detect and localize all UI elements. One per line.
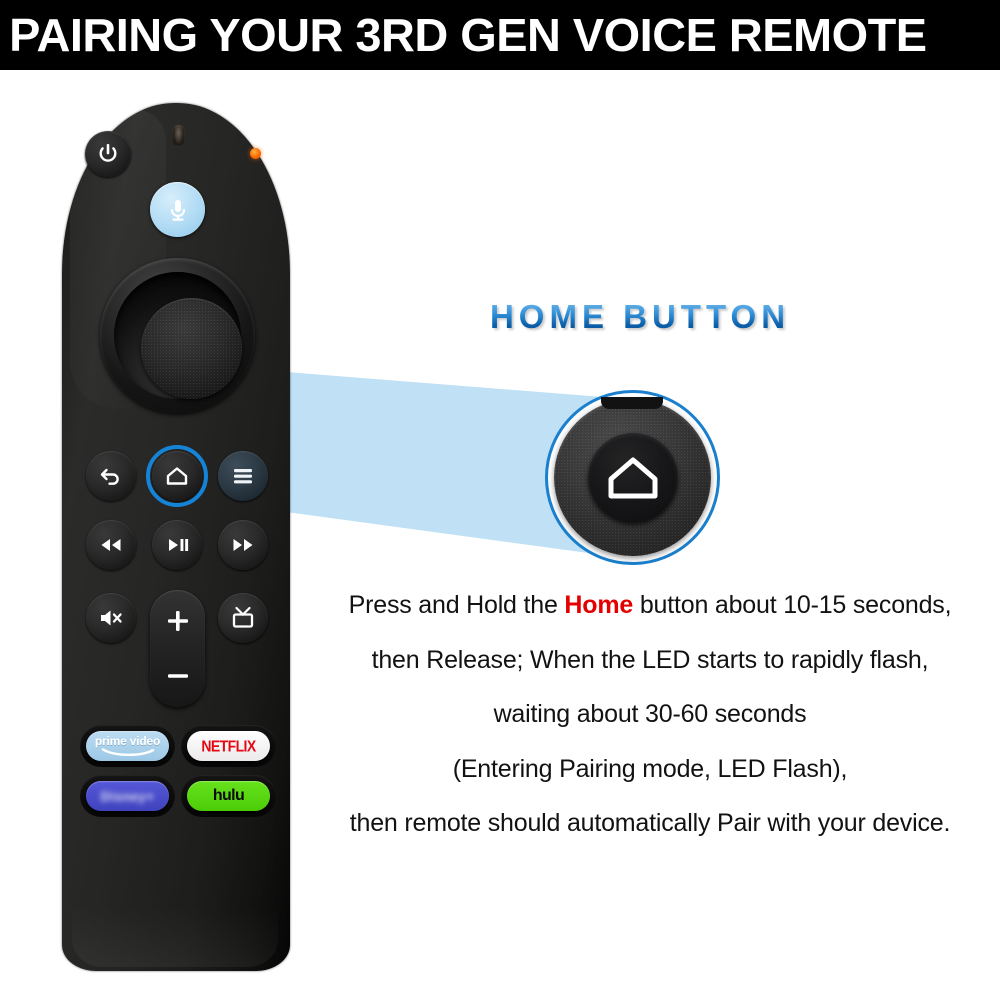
prime-video-label: prime video: [95, 735, 160, 747]
magnified-home-key[interactable]: [588, 433, 678, 523]
callout-title: HOME BUTTON: [470, 298, 810, 336]
home-keyword: Home: [564, 591, 633, 619]
disney-plus-label: Disney+: [101, 789, 155, 804]
fast-forward-icon: [229, 536, 257, 554]
play-pause-button[interactable]: [152, 520, 202, 570]
instruction-line-1-after: button about 10-15 seconds,: [633, 591, 951, 619]
fast-forward-button[interactable]: [218, 520, 268, 570]
voice-search-button[interactable]: [150, 182, 205, 237]
navigation-dpad[interactable]: [100, 258, 255, 413]
hamburger-menu-icon: [230, 465, 256, 487]
dpad-texture: [141, 298, 242, 399]
back-button[interactable]: [86, 451, 136, 501]
microphone-hole: [172, 125, 185, 147]
volume-down-button[interactable]: [150, 647, 205, 705]
remote-bottom-highlight: [72, 907, 278, 967]
instruction-line-2: then Release; When the LED starts to rap…: [300, 647, 1000, 675]
dpad-groove: [114, 272, 241, 399]
mute-speaker-icon: [97, 607, 125, 629]
menu-button[interactable]: [218, 451, 268, 501]
fire-tv-remote: prime video NETFLIX Disney+ hulu: [62, 103, 290, 971]
status-led-indicator: [250, 148, 261, 159]
tv-icon: [229, 605, 257, 631]
amazon-smile-icon: [101, 748, 155, 757]
magnified-dpad-surface: [554, 399, 711, 556]
page-title: PAIRING YOUR 3RD GEN VOICE REMOTE: [0, 12, 927, 58]
header-bar: PAIRING YOUR 3RD GEN VOICE REMOTE: [0, 0, 1000, 70]
mute-button[interactable]: [86, 593, 136, 643]
instructions-block: Press and Hold the Home button about 10-…: [300, 592, 1000, 838]
netflix-button[interactable]: NETFLIX: [187, 731, 270, 761]
power-icon: [96, 142, 120, 166]
instruction-line-1-before: Press and Hold the: [349, 591, 565, 619]
prime-video-button[interactable]: prime video: [86, 731, 169, 761]
select-button[interactable]: [141, 298, 242, 399]
magnified-home-button: [545, 390, 720, 565]
instruction-line-3: waiting about 30-60 seconds: [300, 701, 1000, 729]
play-pause-icon: [163, 536, 191, 554]
plus-icon: [165, 608, 191, 634]
volume-up-button[interactable]: [150, 592, 205, 650]
minus-icon: [165, 663, 191, 689]
hulu-button[interactable]: hulu: [187, 781, 270, 811]
home-button-highlight-ring: [146, 445, 208, 507]
live-tv-button[interactable]: [218, 593, 268, 643]
home-icon: [602, 450, 664, 506]
microphone-icon: [165, 196, 191, 224]
netflix-label: NETFLIX: [201, 737, 255, 755]
instruction-line-4: (Entering Pairing mode, LED Flash),: [300, 756, 1000, 784]
instruction-line-5: then remote should automatically Pair wi…: [300, 810, 1000, 838]
disney-plus-button[interactable]: Disney+: [86, 781, 169, 811]
back-arrow-icon: [98, 464, 124, 488]
rewind-button[interactable]: [86, 520, 136, 570]
hulu-label: hulu: [213, 787, 244, 805]
rewind-icon: [97, 536, 125, 554]
instruction-line-1: Press and Hold the Home button about 10-…: [300, 592, 1000, 620]
volume-rocker[interactable]: [150, 590, 205, 707]
magnified-notch: [601, 397, 663, 409]
power-button[interactable]: [85, 131, 131, 177]
